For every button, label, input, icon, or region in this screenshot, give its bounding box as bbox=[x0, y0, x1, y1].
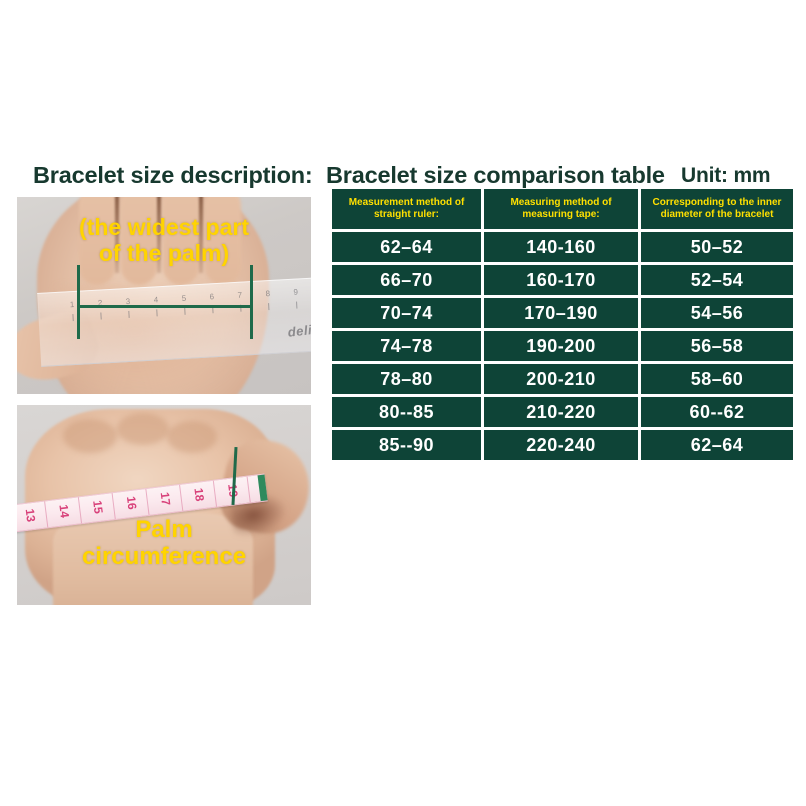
tape-number: 15 bbox=[90, 500, 106, 515]
measurement-line-left bbox=[77, 265, 80, 339]
palm-circumference-caption: Palm circumference bbox=[17, 517, 311, 571]
palm-width-caption: (the widest part of the palm) bbox=[17, 215, 311, 267]
cell-straight-ruler: 62–64 bbox=[332, 232, 481, 262]
table-row: 70–74 170–190 54–56 bbox=[332, 298, 793, 328]
ruler-number: 8 bbox=[265, 289, 270, 298]
knuckle-shading bbox=[167, 421, 217, 453]
table-row: 78–80 200-210 58–60 bbox=[332, 364, 793, 394]
cell-measuring-tape: 220-240 bbox=[484, 430, 638, 460]
cell-measuring-tape: 140-160 bbox=[484, 232, 638, 262]
tape-number: 18 bbox=[191, 487, 207, 502]
palm-circumference-caption-line2: circumference bbox=[17, 544, 311, 571]
cell-straight-ruler: 85--90 bbox=[332, 430, 481, 460]
table-header-measuring-tape: Measuring method of measuring tape: bbox=[484, 189, 638, 229]
ruler-brand-label: deli bbox=[287, 322, 311, 340]
cell-inner-diameter: 52–54 bbox=[641, 265, 793, 295]
palm-width-caption-line1: (the widest part bbox=[17, 215, 311, 241]
cell-measuring-tape: 160-170 bbox=[484, 265, 638, 295]
cell-straight-ruler: 66–70 bbox=[332, 265, 481, 295]
table-row: 62–64 140-160 50–52 bbox=[332, 232, 793, 262]
table-row: 66–70 160-170 52–54 bbox=[332, 265, 793, 295]
tape-number: 16 bbox=[124, 495, 140, 510]
cell-inner-diameter: 54–56 bbox=[641, 298, 793, 328]
measurement-line-right bbox=[250, 265, 253, 339]
knuckle-shading bbox=[117, 413, 169, 445]
table-row: 85--90 220-240 62–64 bbox=[332, 430, 793, 460]
cell-straight-ruler: 74–78 bbox=[332, 331, 481, 361]
ruler-number: 5 bbox=[181, 294, 186, 303]
ruler-number: 7 bbox=[237, 291, 242, 300]
palm-width-caption-line2: of the palm) bbox=[17, 241, 311, 267]
cell-measuring-tape: 170–190 bbox=[484, 298, 638, 328]
ruler-number: 6 bbox=[209, 292, 214, 301]
cell-inner-diameter: 60--62 bbox=[641, 397, 793, 427]
palm-circumference-photo: 13 14 15 16 17 18 19 Palm circumference bbox=[17, 405, 311, 605]
tape-number: 17 bbox=[158, 491, 174, 506]
table-header-row: Measurement method of straight ruler: Me… bbox=[332, 189, 793, 229]
cell-straight-ruler: 78–80 bbox=[332, 364, 481, 394]
cell-measuring-tape: 200-210 bbox=[484, 364, 638, 394]
cell-inner-diameter: 58–60 bbox=[641, 364, 793, 394]
bracelet-size-comparison-table-title: Bracelet size comparison table bbox=[326, 162, 665, 189]
palm-width-photo: 1 2 3 4 5 6 7 8 9 deli (the widest part … bbox=[17, 197, 311, 394]
table-header-inner-diameter: Corresponding to the inner diameter of t… bbox=[641, 189, 793, 229]
unit-label: Unit: mm bbox=[681, 164, 770, 188]
size-guide-canvas: Bracelet size description: Bracelet size… bbox=[0, 0, 806, 806]
bracelet-size-table: Measurement method of straight ruler: Me… bbox=[329, 186, 796, 463]
table-header-straight-ruler: Measurement method of straight ruler: bbox=[332, 189, 481, 229]
measurement-line-horizontal bbox=[77, 305, 252, 308]
table-row: 80--85 210-220 60--62 bbox=[332, 397, 793, 427]
cell-measuring-tape: 190-200 bbox=[484, 331, 638, 361]
ruler-number: 9 bbox=[293, 287, 298, 296]
bracelet-size-description-title: Bracelet size description: bbox=[33, 162, 313, 189]
table-row: 74–78 190-200 56–58 bbox=[332, 331, 793, 361]
knuckle-shading bbox=[63, 419, 117, 453]
cell-straight-ruler: 70–74 bbox=[332, 298, 481, 328]
cell-inner-diameter: 50–52 bbox=[641, 232, 793, 262]
ruler-number: 4 bbox=[153, 295, 158, 304]
cell-inner-diameter: 62–64 bbox=[641, 430, 793, 460]
cell-inner-diameter: 56–58 bbox=[641, 331, 793, 361]
ruler-number: 1 bbox=[70, 300, 75, 309]
palm-circumference-caption-line1: Palm bbox=[17, 517, 311, 544]
cell-straight-ruler: 80--85 bbox=[332, 397, 481, 427]
cell-measuring-tape: 210-220 bbox=[484, 397, 638, 427]
